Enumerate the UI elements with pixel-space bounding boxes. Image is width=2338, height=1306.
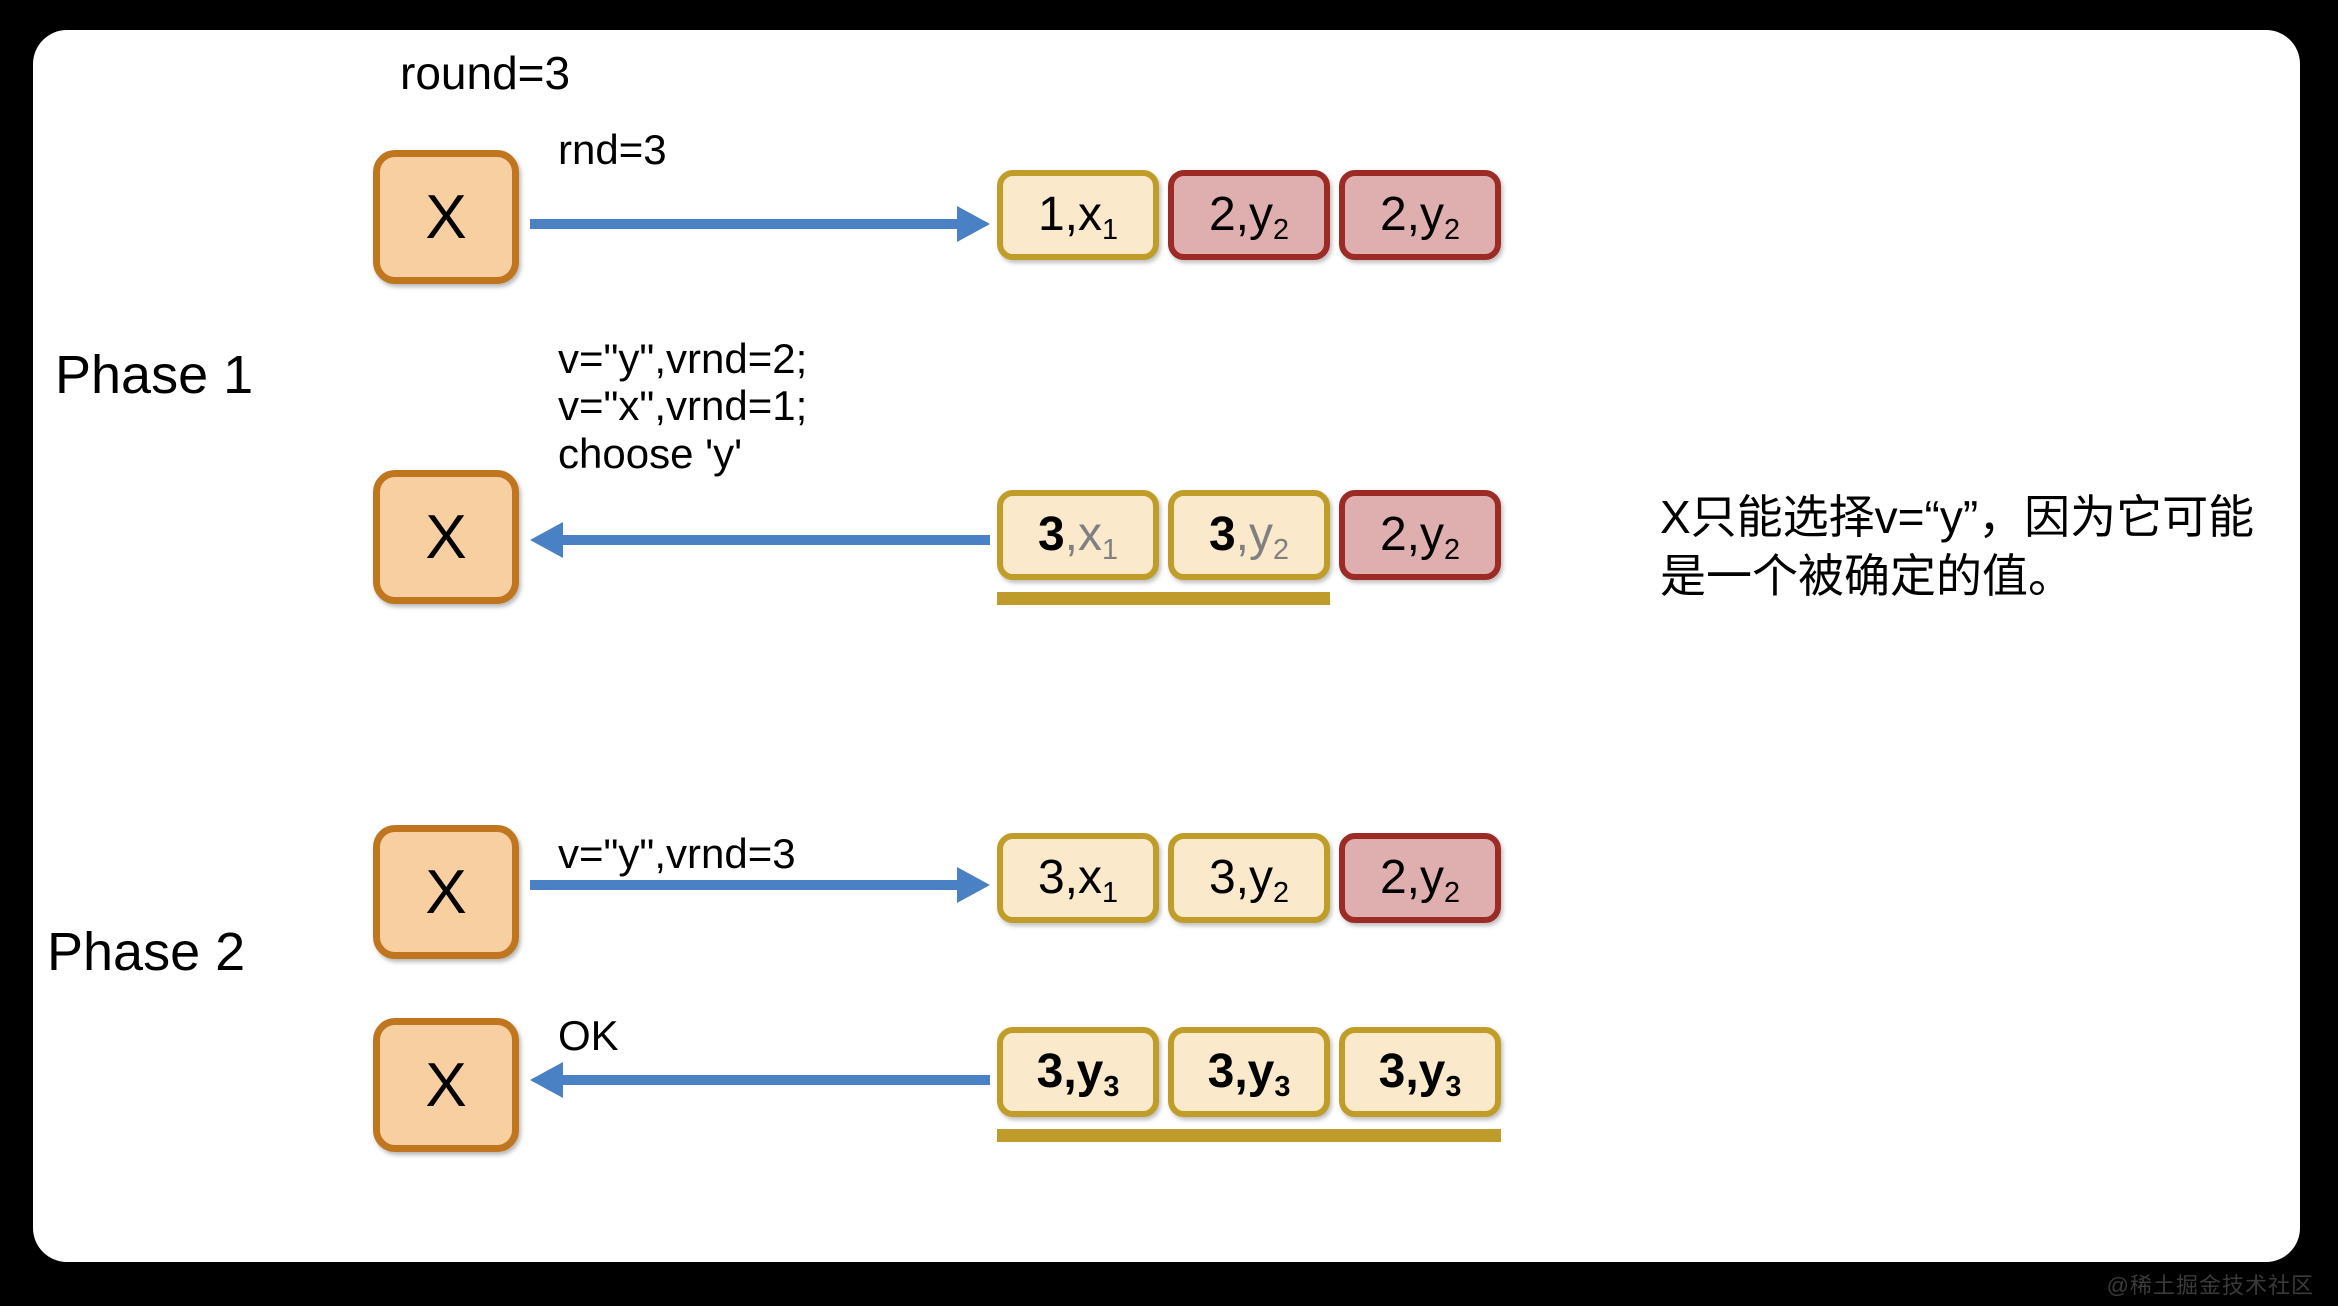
- arrow-head-right-icon: [957, 206, 990, 242]
- round-label: round=3: [400, 46, 570, 100]
- cell-text: 1,x1: [1038, 191, 1118, 239]
- edge-label-phase2-accepted: OK: [558, 1012, 619, 1059]
- arrow-shaft: [530, 880, 960, 890]
- edge-label-phase2-accept: v="y",vrnd=3: [558, 830, 796, 877]
- cell-r1-c2: 2,y2: [1339, 490, 1501, 580]
- cell-value: y: [1249, 191, 1273, 239]
- quorum-bar-phase2: [997, 1129, 1501, 1142]
- cell-value: y: [1248, 1048, 1275, 1096]
- cell-value-sub: 2: [1273, 216, 1289, 245]
- cell-value: y: [1420, 191, 1444, 239]
- arrow-head-left-icon: [530, 522, 563, 558]
- cell-text: 3,y3: [1208, 1048, 1291, 1096]
- cell-text: 3,y2: [1209, 854, 1289, 902]
- cell-round: 3: [1379, 1048, 1406, 1096]
- arrow-head-right-icon: [957, 867, 990, 903]
- cell-value-sub: 2: [1444, 536, 1460, 565]
- diagram-canvas: round=3 Phase 1 Phase 2 X rnd=3 1,x1 2,y…: [0, 0, 2338, 1306]
- arrow-shaft: [530, 219, 960, 229]
- cell-text: 3,y2: [1209, 511, 1289, 559]
- node-x-phase2-accepted[interactable]: X: [373, 1018, 519, 1152]
- cell-r2-c1: 3,y2: [1168, 833, 1330, 923]
- cell-value: x: [1078, 511, 1102, 559]
- cell-value-sub: 1: [1102, 216, 1118, 245]
- arrow-head-left-icon: [530, 1062, 563, 1098]
- phase-label-1: Phase 1: [55, 348, 253, 402]
- cell-value-sub: 2: [1444, 216, 1460, 245]
- cell-r3-c1: 3,y3: [1168, 1027, 1330, 1117]
- cell-r1-c0: 3,x1: [997, 490, 1159, 580]
- arrow-phase1-prepare: [530, 219, 990, 229]
- cell-value: y: [1420, 511, 1444, 559]
- cell-r3-c2: 3,y3: [1339, 1027, 1501, 1117]
- cell-r2-c2: 2,y2: [1339, 833, 1501, 923]
- cell-value-sub: 3: [1103, 1073, 1119, 1102]
- cell-text: 3,x1: [1038, 511, 1118, 559]
- cell-value-sub: 2: [1273, 879, 1289, 908]
- arrow-shaft: [560, 535, 990, 545]
- cell-r0-c0: 1,x1: [997, 170, 1159, 260]
- arrow-shaft: [560, 1075, 990, 1085]
- cell-round: 1: [1038, 191, 1065, 239]
- cell-text: 2,y2: [1380, 511, 1460, 559]
- cell-round: 2: [1380, 191, 1407, 239]
- cell-round: 2: [1380, 854, 1407, 902]
- cell-value-sub: 3: [1274, 1073, 1290, 1102]
- cell-value: y: [1420, 854, 1444, 902]
- cell-r1-c1: 3,y2: [1168, 490, 1330, 580]
- cell-round: 3: [1038, 854, 1065, 902]
- cell-value: x: [1078, 854, 1102, 902]
- cell-round: 3: [1209, 854, 1236, 902]
- phase-label-2: Phase 2: [47, 925, 245, 979]
- arrow-phase2-accept: [530, 880, 990, 890]
- arrow-phase2-accepted: [530, 1075, 990, 1085]
- cell-round: 3: [1037, 1048, 1064, 1096]
- cell-value-sub: 2: [1444, 879, 1460, 908]
- cell-round: 3: [1208, 1048, 1235, 1096]
- cell-value-sub: 3: [1445, 1073, 1461, 1102]
- cell-text: 3,x1: [1038, 854, 1118, 902]
- cell-r2-c0: 3,x1: [997, 833, 1159, 923]
- node-x-phase2-accept[interactable]: X: [373, 825, 519, 959]
- cell-r3-c0: 3,y3: [997, 1027, 1159, 1117]
- cell-round: 2: [1380, 511, 1407, 559]
- cell-text: 2,y2: [1209, 191, 1289, 239]
- cell-text: 2,y2: [1380, 854, 1460, 902]
- node-x-phase1-promise[interactable]: X: [373, 470, 519, 604]
- cell-value-sub: 2: [1273, 536, 1289, 565]
- cell-round: 3: [1209, 511, 1236, 559]
- cell-value-sub: 1: [1102, 536, 1118, 565]
- cell-round: 2: [1209, 191, 1236, 239]
- cell-r0-c1: 2,y2: [1168, 170, 1330, 260]
- cell-r0-c2: 2,y2: [1339, 170, 1501, 260]
- cell-value: y: [1249, 511, 1273, 559]
- edge-label-phase1-prepare: rnd=3: [558, 126, 667, 173]
- cell-value: y: [1419, 1048, 1446, 1096]
- cell-value: x: [1078, 191, 1102, 239]
- cell-text: 2,y2: [1380, 191, 1460, 239]
- cell-text: 3,y3: [1037, 1048, 1120, 1096]
- edge-label-phase1-promise: v="y",vrnd=2; v="x",vrnd=1; choose 'y': [558, 335, 807, 477]
- cell-value: y: [1249, 854, 1273, 902]
- cell-text: 3,y3: [1379, 1048, 1462, 1096]
- annotation-text: X只能选择v=“y”，因为它可能 是一个被确定的值。: [1660, 488, 2280, 606]
- cell-value: y: [1077, 1048, 1104, 1096]
- cell-round: 3: [1038, 511, 1065, 559]
- quorum-bar-phase1: [997, 592, 1330, 605]
- node-x-phase1-prepare[interactable]: X: [373, 150, 519, 284]
- cell-value-sub: 1: [1102, 879, 1118, 908]
- arrow-phase1-promise: [530, 535, 990, 545]
- watermark: @稀土掘金技术社区: [2107, 1268, 2314, 1300]
